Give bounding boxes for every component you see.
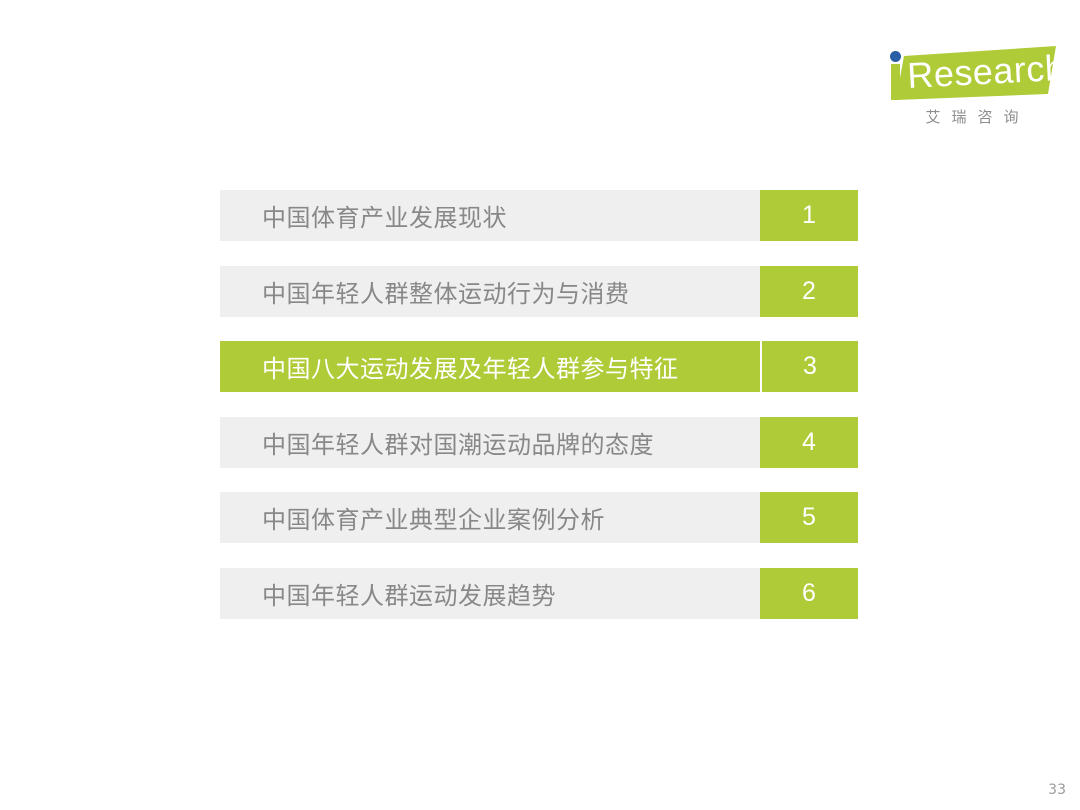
agenda-item-number-cell[interactable]: 5 [760, 492, 858, 543]
agenda-item-label-cell[interactable]: 中国年轻人群整体运动行为与消费 [220, 266, 760, 317]
iresearch-logo: Research 艾瑞咨询 [880, 42, 1060, 134]
agenda-item-5[interactable]: 中国体育产业典型企业案例分析 5 [220, 492, 858, 543]
agenda-item-number-cell[interactable]: 1 [760, 190, 858, 241]
agenda-item-label: 中国体育产业发展现状 [262, 198, 507, 233]
agenda-item-number: 2 [802, 279, 816, 304]
agenda-item-4[interactable]: 中国年轻人群对国潮运动品牌的态度 4 [220, 417, 858, 468]
agenda-item-2[interactable]: 中国年轻人群整体运动行为与消费 2 [220, 266, 858, 317]
agenda-item-number: 3 [803, 354, 817, 379]
agenda-item-label: 中国八大运动发展及年轻人群参与特征 [262, 349, 679, 384]
agenda-item-label: 中国年轻人群对国潮运动品牌的态度 [262, 425, 654, 460]
agenda-item-label-cell[interactable]: 中国体育产业发展现状 [220, 190, 760, 241]
agenda-item-number: 5 [802, 505, 816, 530]
agenda-item-label-cell[interactable]: 中国体育产业典型企业案例分析 [220, 492, 760, 543]
agenda-item-number: 6 [802, 581, 816, 606]
agenda-item-label-cell[interactable]: 中国年轻人群运动发展趋势 [220, 568, 760, 619]
agenda-item-number: 4 [802, 430, 816, 455]
agenda-item-number-cell[interactable]: 2 [760, 266, 858, 317]
logo-wordmark: Research [906, 47, 1060, 96]
agenda-item-label-cell[interactable]: 中国八大运动发展及年轻人群参与特征 [220, 341, 760, 392]
agenda-item-label: 中国年轻人群整体运动行为与消费 [262, 274, 630, 309]
iresearch-logo-icon: Research [880, 42, 1060, 104]
agenda-list: 中国体育产业发展现状 1 中国年轻人群整体运动行为与消费 2 中国八大运动发展及… [220, 190, 858, 619]
agenda-item-number-cell[interactable]: 4 [760, 417, 858, 468]
agenda-item-6[interactable]: 中国年轻人群运动发展趋势 6 [220, 568, 858, 619]
agenda-item-label: 中国体育产业典型企业案例分析 [262, 500, 605, 535]
agenda-item-number-cell[interactable]: 3 [762, 341, 858, 392]
slide-canvas: Research 艾瑞咨询 中国体育产业发展现状 1 中国年轻人群整体运动行为与… [0, 0, 1080, 810]
agenda-item-label: 中国年轻人群运动发展趋势 [262, 576, 556, 611]
agenda-item-label-cell[interactable]: 中国年轻人群对国潮运动品牌的态度 [220, 417, 760, 468]
agenda-item-number-cell[interactable]: 6 [760, 568, 858, 619]
agenda-item-1[interactable]: 中国体育产业发展现状 1 [220, 190, 858, 241]
logo-chinese-name: 艾瑞咨询 [888, 106, 1056, 127]
agenda-item-number: 1 [802, 203, 816, 228]
agenda-item-3-active[interactable]: 中国八大运动发展及年轻人群参与特征 3 [220, 341, 858, 392]
page-number: 33 [1048, 782, 1066, 798]
